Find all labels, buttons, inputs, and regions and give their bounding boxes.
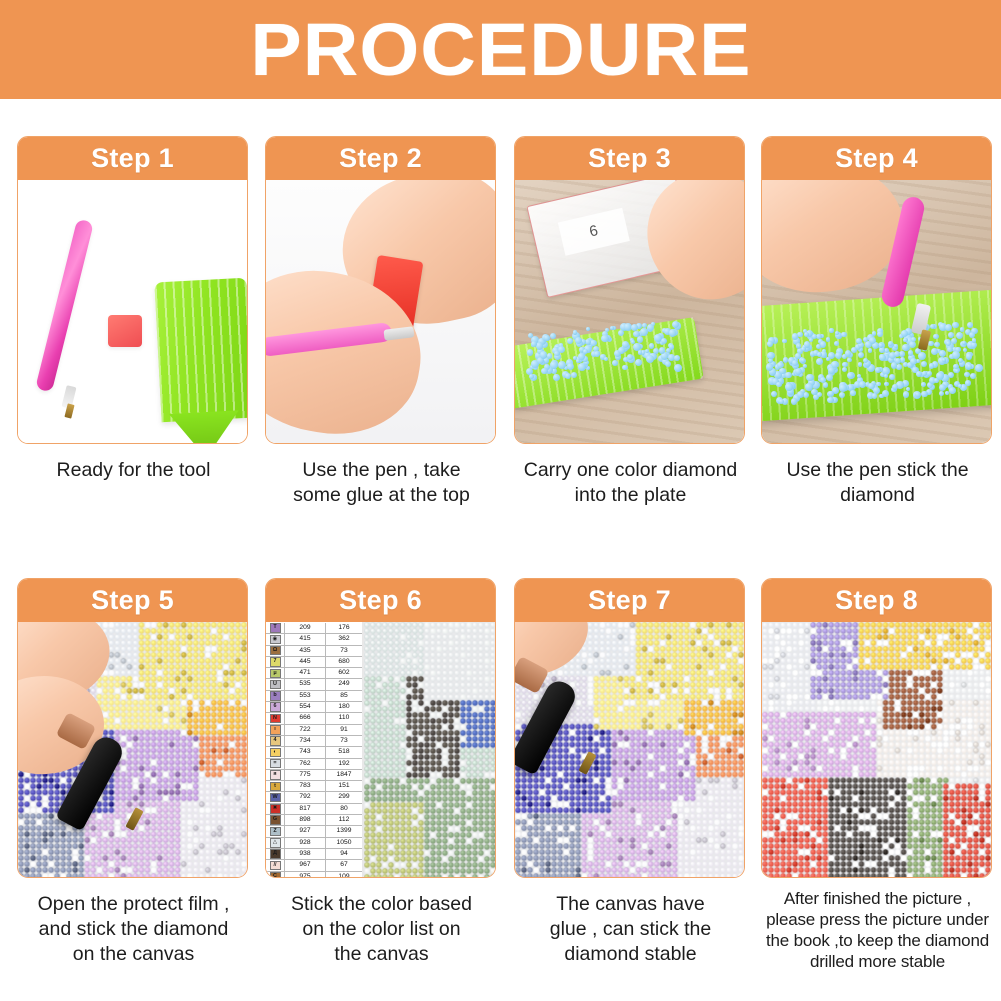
diamond-bead — [618, 347, 625, 354]
color-symbol-swatch: ı — [266, 725, 285, 735]
diamond-bead — [528, 333, 533, 338]
diamond-bead — [553, 374, 560, 381]
diamond-bead — [618, 330, 624, 336]
step-card-3[interactable]: Step 3 6 Carry one color diamond into th… — [514, 136, 747, 508]
table-row: W792299 — [266, 792, 362, 803]
color-count: 73 — [326, 736, 362, 746]
color-code: 927 — [285, 826, 326, 836]
step-photo-4 — [762, 180, 991, 443]
diamond-bead — [847, 372, 854, 379]
color-code: 209 — [285, 623, 326, 633]
step-caption-8: After finished the picture , please pres… — [761, 888, 994, 972]
diamond-bead — [945, 324, 952, 331]
diamond-bead — [792, 333, 798, 339]
color-code: 938 — [285, 849, 326, 859]
diamond-bead — [875, 367, 881, 373]
color-count: 85 — [326, 691, 362, 701]
color-symbol-swatch: U — [266, 679, 285, 689]
step-photo-3: 6 — [515, 180, 744, 443]
diamond-bead — [792, 360, 798, 366]
step-header-3: Step 3 — [515, 137, 744, 180]
step-photo-6: T209176◉415362Ω435737445680μ471602U53524… — [266, 622, 495, 877]
diamond-bead — [889, 374, 895, 380]
diamond-bead — [565, 373, 571, 379]
card-frame: Step 3 6 — [514, 136, 745, 444]
step-label: Step 6 — [339, 585, 422, 616]
diamond-bead — [659, 347, 665, 353]
diamond-bead — [529, 374, 534, 379]
color-code: 928 — [285, 838, 326, 848]
diamond-bead — [930, 324, 935, 329]
diamond-bead — [882, 390, 889, 397]
step-label: Step 4 — [835, 143, 918, 174]
color-code: 967 — [285, 860, 326, 870]
diamond-bead — [804, 332, 809, 337]
step-caption-7: The canvas have glue , can stick the dia… — [514, 892, 747, 967]
color-symbol-swatch: ◉ — [266, 634, 285, 644]
green-tray-icon — [154, 278, 247, 423]
color-symbol-swatch: T — [266, 623, 285, 633]
color-chart-and-canvas: T209176◉415362Ω435737445680μ471602U53524… — [266, 622, 495, 877]
table-row: 7445680 — [266, 657, 362, 668]
color-code: 535 — [285, 679, 326, 689]
color-count: 249 — [326, 679, 362, 689]
color-count: 602 — [326, 668, 362, 678]
table-row: N666110 — [266, 713, 362, 724]
color-symbol-swatch: μ — [266, 668, 285, 678]
diamond-bead — [669, 329, 676, 336]
diamond-bead — [795, 353, 801, 359]
step-caption-4: Use the pen stick the diamond — [761, 458, 994, 508]
diamond-bead — [970, 373, 976, 379]
steps-row-bottom: Step 5 Open the protect film , and stick… — [0, 578, 1001, 998]
step-photo-5 — [18, 622, 247, 877]
diamond-bead — [858, 352, 864, 358]
diamond-bead — [958, 358, 963, 363]
table-row: =762192 — [266, 759, 362, 770]
diamond-bead — [622, 365, 627, 370]
color-symbol-swatch: W — [266, 792, 285, 802]
card-frame: Step 4 — [761, 136, 992, 444]
color-symbol-swatch: C — [266, 872, 285, 877]
diamond-bead — [964, 372, 969, 377]
color-code: 775 — [285, 770, 326, 780]
diamond-bead — [891, 362, 898, 369]
color-count: 94 — [326, 849, 362, 859]
diamond-bead — [540, 351, 547, 358]
color-count: 73 — [326, 646, 362, 656]
color-symbol-swatch: N — [266, 713, 285, 723]
color-code: 792 — [285, 792, 326, 802]
color-count: 151 — [326, 781, 362, 791]
diamond-bead — [911, 337, 916, 342]
diamond-bead — [633, 331, 639, 337]
step-card-8[interactable]: Step 8 After finished the picture , plea… — [761, 578, 994, 972]
diamond-bead — [847, 358, 851, 362]
diamond-bead — [892, 384, 898, 390]
color-count: 1050 — [326, 838, 362, 848]
step-caption-2: Use the pen , take some glue at the top — [265, 458, 498, 508]
step-caption-6: Stick the color based on the color list … — [265, 892, 498, 967]
step-card-5[interactable]: Step 5 Open the protect film , and stick… — [17, 578, 250, 967]
color-code: 975 — [285, 872, 326, 877]
step-label: Step 2 — [339, 143, 422, 174]
color-count: 80 — [326, 804, 362, 814]
diamond-bead — [839, 384, 847, 392]
table-row: ◐743518 — [266, 747, 362, 758]
diamond-bead — [958, 384, 962, 388]
color-code: 554 — [285, 702, 326, 712]
diamond-bead — [967, 364, 972, 369]
table-row: △9281050 — [266, 838, 362, 849]
step-label: Step 7 — [588, 585, 671, 616]
color-symbol-swatch: 7 — [266, 657, 285, 667]
step-label: Step 5 — [91, 585, 174, 616]
step-label: Step 8 — [835, 585, 918, 616]
diamond-bead — [612, 360, 618, 366]
color-code: 762 — [285, 759, 326, 769]
color-code: 722 — [285, 725, 326, 735]
color-count: 176 — [326, 623, 362, 633]
table-row: G898112 — [266, 815, 362, 826]
color-code: 471 — [285, 668, 326, 678]
table-row: Д93894 — [266, 849, 362, 860]
color-code: 898 — [285, 815, 326, 825]
color-symbol-swatch: // — [266, 860, 285, 870]
diamond-bead — [816, 358, 823, 365]
table-row: 473473 — [266, 736, 362, 747]
diamond-bead — [640, 328, 648, 336]
diamond-bead — [817, 352, 822, 357]
step-card-7[interactable]: Step 7 The canvas have glue , can stick … — [514, 578, 747, 967]
color-count: 67 — [326, 860, 362, 870]
diamond-bead — [949, 387, 956, 394]
diamond-bead — [879, 347, 885, 353]
card-frame: Step 6 T209176◉415362Ω435737445680μ47160… — [265, 578, 496, 878]
step-header-4: Step 4 — [762, 137, 991, 180]
diamond-canvas-mosaic — [364, 622, 495, 877]
color-symbol-swatch: b — [266, 691, 285, 701]
step-header-5: Step 5 — [18, 579, 247, 622]
color-symbol-swatch: Z — [266, 826, 285, 836]
diamond-bead — [953, 364, 958, 369]
color-symbol-swatch: Д — [266, 849, 285, 859]
diamond-bead — [578, 353, 584, 359]
color-code: 734 — [285, 736, 326, 746]
diamond-bead — [801, 347, 805, 351]
table-row: C975109 — [266, 872, 362, 877]
table-row: ı72291 — [266, 725, 362, 736]
table-row: Z9271399 — [266, 826, 362, 837]
color-symbol-swatch: = — [266, 759, 285, 769]
diamond-bead — [594, 351, 600, 357]
diamond-bead — [816, 334, 821, 339]
diamond-bead — [627, 354, 633, 360]
step-header-2: Step 2 — [266, 137, 495, 180]
color-code: 435 — [285, 646, 326, 656]
step-card-1[interactable]: Step 1 Ready for the tool — [17, 136, 250, 483]
color-count: 362 — [326, 634, 362, 644]
diamond-bead — [903, 391, 909, 397]
diamond-bead — [946, 341, 951, 346]
diamond-bead — [776, 382, 782, 388]
diamond-bead — [934, 342, 940, 348]
bag-label: 6 — [558, 208, 630, 256]
color-symbol-swatch: 6 — [266, 702, 285, 712]
diamond-bead — [956, 332, 963, 339]
color-code: 783 — [285, 781, 326, 791]
step-card-6[interactable]: Step 6 T209176◉415362Ω435737445680μ47160… — [265, 578, 498, 967]
diamond-bead — [933, 334, 939, 340]
diamond-bead — [908, 350, 914, 356]
step-header-7: Step 7 — [515, 579, 744, 622]
step-label: Step 1 — [91, 143, 174, 174]
step-header-8: Step 8 — [762, 579, 991, 622]
table-row: T209176 — [266, 623, 362, 634]
page-header-banner: PROCEDURE — [0, 0, 1001, 99]
color-code: 666 — [285, 713, 326, 723]
step-caption-3: Carry one color diamond into the plate — [514, 458, 747, 508]
table-row: я7751847 — [266, 770, 362, 781]
diamond-bead — [601, 335, 609, 343]
diamond-bead — [952, 322, 958, 328]
card-frame: Step 8 — [761, 578, 992, 878]
diamond-bead — [550, 361, 557, 368]
step-card-4[interactable]: Step 4 Use the pen stick the diamond — [761, 136, 994, 508]
color-count: 680 — [326, 657, 362, 667]
step-header-6: Step 6 — [266, 579, 495, 622]
color-list-table: T209176◉415362Ω435737445680μ471602U53524… — [266, 622, 364, 877]
diamond-bead — [806, 374, 813, 381]
color-count: 112 — [326, 815, 362, 825]
red-wax-square-icon — [108, 315, 142, 347]
color-count: 109 — [326, 872, 362, 877]
diamond-bead — [918, 352, 926, 360]
diamond-bead — [936, 372, 944, 380]
diamond-bead — [839, 392, 845, 398]
step-card-2[interactable]: Step 2 Use the pen , take some glue at t… — [265, 136, 498, 508]
diamond-bead — [948, 332, 954, 338]
color-symbol-swatch: ✖ — [266, 804, 285, 814]
table-row: 6554180 — [266, 702, 362, 713]
diamond-bead — [903, 338, 907, 342]
diamond-bead — [586, 327, 590, 331]
diamond-bead — [531, 341, 537, 347]
color-symbol-swatch: t — [266, 781, 285, 791]
color-count: 91 — [326, 725, 362, 735]
diamond-bead — [766, 363, 773, 370]
diamond-bead — [826, 337, 831, 342]
card-frame: Step 2 — [265, 136, 496, 444]
table-row: μ471602 — [266, 668, 362, 679]
step-header-1: Step 1 — [18, 137, 247, 180]
diamond-bead — [901, 330, 908, 337]
diamond-bead — [649, 343, 654, 348]
color-count: 518 — [326, 747, 362, 757]
step-photo-1 — [18, 180, 247, 443]
color-count: 1399 — [326, 826, 362, 836]
diamond-bead — [779, 399, 784, 404]
color-code: 743 — [285, 747, 326, 757]
table-row: b55385 — [266, 691, 362, 702]
step-photo-7 — [515, 622, 744, 877]
card-frame: Step 7 — [514, 578, 745, 878]
diamond-bead — [805, 383, 812, 390]
diamond-bead — [816, 344, 821, 349]
step-caption-5: Open the protect film , and stick the di… — [17, 892, 250, 967]
color-count: 110 — [326, 713, 362, 723]
diamond-bead — [967, 322, 973, 328]
diamond-canvas-mosaic — [762, 622, 991, 877]
diamond-bead — [851, 347, 857, 353]
step-photo-8 — [762, 622, 991, 877]
diamond-bead — [939, 384, 946, 391]
color-count: 192 — [326, 759, 362, 769]
diamond-bead — [842, 367, 847, 372]
diamond-bead — [877, 331, 883, 337]
color-symbol-swatch: ◐ — [266, 747, 285, 757]
diamond-bead — [797, 332, 802, 337]
diamond-bead — [829, 328, 833, 332]
diamond-bead — [879, 343, 883, 347]
color-code: 817 — [285, 804, 326, 814]
color-symbol-swatch: я — [266, 770, 285, 780]
color-count: 1847 — [326, 770, 362, 780]
diamond-bead — [828, 367, 835, 374]
card-frame: Step 1 — [17, 136, 248, 444]
table-row: Ω43573 — [266, 646, 362, 657]
diamond-bead — [771, 391, 777, 397]
color-code: 553 — [285, 691, 326, 701]
table-row: //96767 — [266, 860, 362, 871]
step-label: Step 3 — [588, 143, 671, 174]
diamond-bead — [558, 361, 566, 369]
diamond-bead — [868, 348, 872, 352]
diamond-bead — [544, 335, 549, 340]
diamond-bead — [820, 377, 826, 383]
diamond-bead — [863, 358, 868, 363]
diamond-bead — [791, 398, 798, 405]
diamond-bead — [785, 383, 793, 391]
color-symbol-swatch: Ω — [266, 646, 285, 656]
color-symbol-swatch: G — [266, 815, 285, 825]
diamond-bead — [965, 380, 971, 386]
table-row: ◉415362 — [266, 634, 362, 645]
diamond-bead — [850, 390, 856, 396]
color-symbol-swatch: △ — [266, 838, 285, 848]
step-caption-1: Ready for the tool — [17, 458, 250, 483]
diamond-bead — [779, 368, 785, 374]
color-symbol-swatch: 4 — [266, 736, 285, 746]
diamond-bead — [803, 364, 807, 368]
table-row: ✖81780 — [266, 804, 362, 815]
diamond-bead — [972, 338, 977, 343]
card-frame: Step 5 — [17, 578, 248, 878]
diamond-bead — [899, 351, 904, 356]
diamond-bead — [647, 324, 654, 331]
diamond-bead — [767, 352, 774, 359]
diamond-bead — [975, 364, 983, 372]
table-row: U535249 — [266, 679, 362, 690]
diamond-bead — [674, 364, 682, 372]
diamond-bead — [858, 362, 863, 367]
step-photo-2 — [266, 180, 495, 443]
color-code: 445 — [285, 657, 326, 667]
diamond-bead — [666, 348, 671, 353]
diamond-bead — [590, 340, 597, 347]
table-row: t783151 — [266, 781, 362, 792]
steps-row-top: Step 1 Ready for the tool Step 2 — [0, 136, 1001, 536]
diamond-bead — [916, 371, 922, 377]
diamond-bead — [931, 348, 938, 355]
diamond-bead — [922, 371, 927, 376]
diamond-bead — [578, 363, 586, 371]
diamond-bead — [782, 339, 786, 343]
page-title: PROCEDURE — [250, 13, 751, 87]
color-count: 180 — [326, 702, 362, 712]
color-code: 415 — [285, 634, 326, 644]
diamond-bead — [573, 330, 577, 334]
color-count: 299 — [326, 792, 362, 802]
diamond-bead — [884, 382, 888, 386]
